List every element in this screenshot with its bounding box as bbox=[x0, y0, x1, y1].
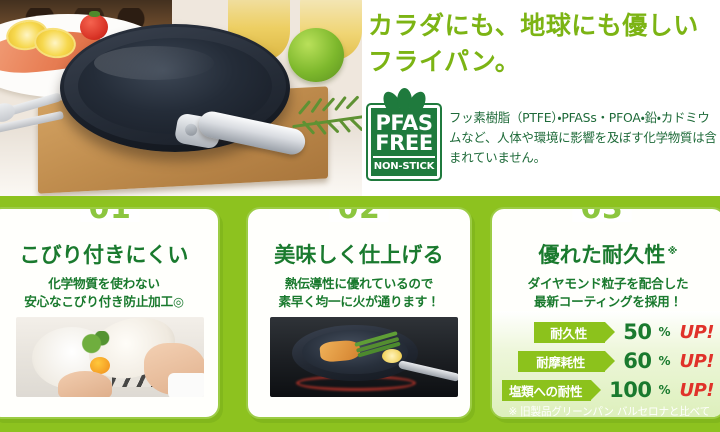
card-subtitle: 熱伝導性に優れているので 素早く均一に火が通ります！ bbox=[248, 275, 470, 312]
card-title-asterisk: ※ bbox=[668, 246, 678, 257]
stat-label: 耐摩耗性 bbox=[518, 351, 605, 372]
card-subtitle: ダイヤモンド粒子を配合した 最新コーティングを採用！ bbox=[492, 275, 720, 312]
headline-line-2: フライパン。 bbox=[368, 44, 718, 80]
feature-card-02: 02 美味しく仕上げる 熱伝導性に優れているので 素早く均一に火が通ります！ bbox=[246, 207, 472, 419]
card-subtitle: 化学物質を使わない 安心なこびり付き防止加工◎ bbox=[0, 275, 218, 312]
feature-card-03: 03 優れた耐久性※ ダイヤモンド粒子を配合した 最新コーティングを採用！ 耐久… bbox=[490, 207, 720, 419]
card-title-text: 美味しく仕上げる bbox=[274, 239, 444, 269]
stat-value: 60 bbox=[623, 349, 651, 373]
headline-line-1: カラダにも、地球にも優しい bbox=[368, 8, 718, 44]
card-subtitle-line-2: 最新コーティングを採用！ bbox=[492, 293, 720, 311]
card-number: 01 bbox=[81, 207, 140, 222]
durability-stats-chart: 耐久性 50 % UP! 耐摩耗性 60 % UP! 塩類への耐性 100 % … bbox=[492, 311, 720, 419]
stat-row: 耐摩耗性 60 % UP! bbox=[502, 349, 714, 373]
pfas-free-row: PFAS FREE NON-STICK フッ素樹脂（PTFE）・PFASs・PF… bbox=[368, 92, 720, 179]
card-subtitle-line-1: ダイヤモンド粒子を配合した bbox=[492, 275, 720, 293]
headline-panel: カラダにも、地球にも優しい フライパン。 PFAS FREE NON-STICK bbox=[364, 0, 720, 196]
card-title: こびり付きにくい bbox=[0, 239, 218, 269]
stat-unit: % bbox=[658, 354, 670, 368]
card-subtitle-line-2: 素早く均一に火が通ります！ bbox=[248, 293, 470, 311]
card-title: 優れた耐久性※ bbox=[492, 239, 720, 269]
lime-fruit-icon bbox=[288, 28, 344, 82]
card-photo-salmon-pan bbox=[270, 317, 458, 397]
card-number: 03 bbox=[573, 207, 632, 222]
card-subtitle-line-1: 化学物質を使わない bbox=[0, 275, 218, 293]
stat-unit: % bbox=[658, 325, 670, 339]
badge-line-1: PFAS bbox=[373, 113, 435, 133]
feature-cards: 01 こびり付きにくい 化学物質を使わない 安心なこびり付き防止加工◎ bbox=[0, 196, 720, 432]
card-number: 02 bbox=[330, 207, 389, 222]
card-title-text: こびり付きにくい bbox=[19, 239, 188, 269]
card-photo-egg-plating bbox=[16, 317, 204, 397]
stat-suffix: UP! bbox=[679, 322, 714, 343]
badge-line-3: NON-STICK bbox=[373, 156, 435, 172]
stat-label: 塩類への耐性 bbox=[502, 380, 591, 401]
footnote: ※ 旧製品グリーンパン バルセロナと比べて bbox=[508, 404, 710, 419]
stat-suffix: UP! bbox=[679, 380, 714, 401]
stat-row: 塩類への耐性 100 % UP! bbox=[502, 378, 714, 402]
hero-product-photo bbox=[0, 0, 362, 196]
page-title: カラダにも、地球にも優しい フライパン。 bbox=[368, 8, 718, 79]
feature-card-01: 01 こびり付きにくい 化学物質を使わない 安心なこびり付き防止加工◎ bbox=[0, 207, 220, 419]
stat-unit: % bbox=[658, 383, 670, 397]
stat-row: 耐久性 50 % UP! bbox=[502, 320, 714, 344]
top-section: カラダにも、地球にも優しい フライパン。 PFAS FREE NON-STICK bbox=[0, 0, 720, 196]
advertisement-page: カラダにも、地球にも優しい フライパン。 PFAS FREE NON-STICK bbox=[0, 0, 720, 432]
card-subtitle-line-2: 安心なこびり付き防止加工◎ bbox=[0, 293, 218, 311]
card-subtitle-line-1: 熱伝導性に優れているので bbox=[248, 275, 470, 293]
stat-suffix: UP! bbox=[679, 351, 714, 372]
card-title: 美味しく仕上げる bbox=[248, 239, 470, 269]
stat-value: 50 bbox=[623, 320, 651, 344]
pfas-description: フッ素樹脂（PTFE）・PFASs・PFOA・鉛・カドミウムなど、人体や環境に影… bbox=[449, 92, 720, 168]
pfas-free-badge: PFAS FREE NON-STICK bbox=[368, 92, 440, 179]
leaf-icon bbox=[381, 90, 427, 110]
stat-value: 100 bbox=[609, 378, 651, 402]
stat-label: 耐久性 bbox=[534, 322, 605, 343]
card-title-text: 優れた耐久性 bbox=[538, 239, 665, 269]
frying-pan-product bbox=[60, 24, 290, 166]
badge-line-2: FREE bbox=[373, 133, 435, 153]
